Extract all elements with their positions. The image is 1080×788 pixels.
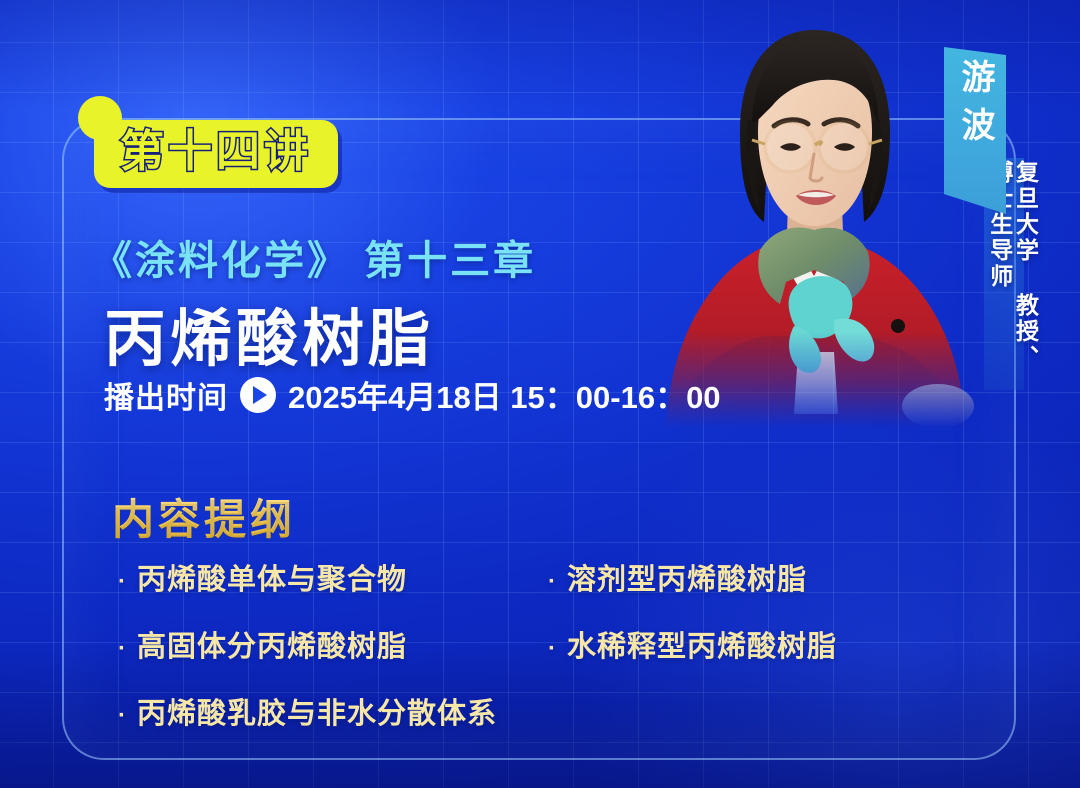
speaker-name: 游波 [958,59,992,155]
list-item-label: 丙烯酸单体与聚合物 [137,556,407,598]
list-item: · 高固体分丙烯酸树脂 [118,623,548,665]
bullet-icon: · [118,704,127,728]
bullet-icon: · [548,637,557,661]
chapter-subtitle: 《涂料化学》 第十三章 [92,228,536,286]
outline-column-left: · 丙烯酸单体与聚合物 · 高固体分丙烯酸树脂 · 丙烯酸乳胶与非水分散体系 [118,556,548,757]
badge-label: 第十四讲 [120,129,312,175]
lecture-poster: 复旦大学 教授、博士生导师 游波 第十四讲 《涂料化学》 第十三章 丙烯酸树脂 … [0,0,1080,788]
broadcast-label: 播出时间 [104,373,228,417]
list-item-label: 高固体分丙烯酸树脂 [137,623,407,665]
bullet-icon: · [118,637,127,661]
speaker-portrait [648,14,978,432]
badge-pill: 第十四讲 [94,120,338,188]
outline-heading: 内容提纲 [112,486,296,547]
outline-columns: · 丙烯酸单体与聚合物 · 高固体分丙烯酸树脂 · 丙烯酸乳胶与非水分散体系 ·… [118,556,938,757]
list-item: · 溶剂型丙烯酸树脂 [548,556,938,598]
list-item-label: 水稀释型丙烯酸树脂 [567,623,837,665]
list-item-label: 溶剂型丙烯酸树脂 [567,556,807,598]
bullet-icon: · [548,570,557,594]
outline-column-right: · 溶剂型丙烯酸树脂 · 水稀释型丙烯酸树脂 [548,556,938,757]
page-title: 丙烯酸树脂 [104,288,434,378]
list-item: · 丙烯酸乳胶与非水分散体系 [118,690,548,732]
list-item: · 水稀释型丙烯酸树脂 [548,623,938,665]
bullet-icon: · [118,570,127,594]
speaker-name-ribbon: 游波 [944,47,1006,214]
broadcast-time-row: 播出时间 2025年4月18日 15：00-16：00 [104,372,721,417]
list-item-label: 丙烯酸乳胶与非水分散体系 [137,690,497,732]
broadcast-datetime: 2025年4月18日 15：00-16：00 [288,372,721,417]
list-item: · 丙烯酸单体与聚合物 [118,556,548,598]
play-icon [240,377,276,413]
